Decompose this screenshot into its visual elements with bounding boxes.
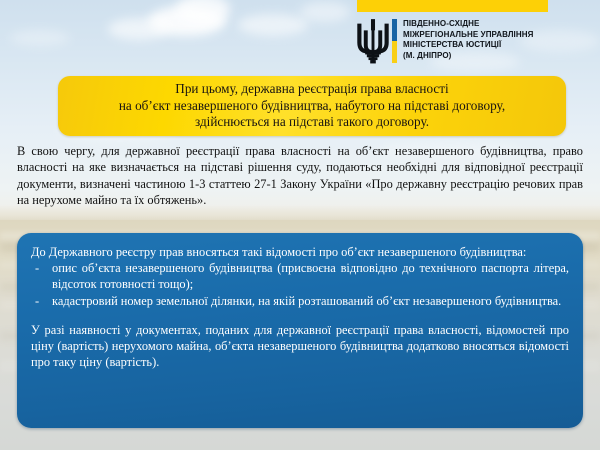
org-line-4: (М. ДНІПРО) bbox=[403, 51, 451, 60]
body-paragraph: В свою чергу, для державної реєстрації п… bbox=[17, 143, 583, 208]
bullet-dash-icon: - bbox=[35, 293, 39, 309]
organization-name: ПІВДЕННО-СХІДНЕ МІЖРЕГІОНАЛЬНЕ УПРАВЛІНН… bbox=[403, 18, 533, 61]
list-item: - опис об’єкта незавершеного будівництва… bbox=[31, 260, 569, 292]
organization-logo: ПІВДЕННО-СХІДНЕ МІЖРЕГІОНАЛЬНЕ УПРАВЛІНН… bbox=[356, 18, 576, 68]
spacer bbox=[31, 309, 569, 322]
header-accent-bar bbox=[357, 0, 548, 12]
org-line-1: ПІВДЕННО-СХІДНЕ bbox=[403, 19, 479, 28]
org-line-2: МІЖРЕГІОНАЛЬНЕ УПРАВЛІННЯ bbox=[403, 30, 533, 39]
bullet-dash-icon: - bbox=[35, 260, 39, 276]
cloud-icon bbox=[238, 14, 308, 36]
ukraine-flag-bar-icon bbox=[392, 19, 397, 63]
title-callout: При цьому, державна реєстрація права вла… bbox=[58, 76, 566, 136]
title-line-1: При цьому, державна реєстрація права вла… bbox=[175, 81, 448, 98]
blue-callout: До Державного реєстру прав вносяться так… bbox=[17, 233, 583, 428]
title-line-2: на об’єкт незавершеного будівництва, наб… bbox=[119, 98, 505, 115]
ukraine-trident-icon bbox=[356, 18, 390, 64]
list-item-label: кадастровий номер земельної ділянки, на … bbox=[52, 294, 561, 308]
slide-canvas: ПІВДЕННО-СХІДНЕ МІЖРЕГІОНАЛЬНЕ УПРАВЛІНН… bbox=[0, 0, 600, 450]
blue-callout-bullet-list: - опис об’єкта незавершеного будівництва… bbox=[31, 260, 569, 309]
cloud-icon bbox=[300, 2, 350, 22]
blue-callout-closing: У разі наявності у документах, поданих д… bbox=[31, 322, 569, 371]
cloud-icon bbox=[108, 18, 170, 40]
blue-callout-intro: До Державного реєстру прав вносяться так… bbox=[31, 244, 569, 260]
cloud-icon bbox=[10, 30, 70, 46]
list-item-label: опис об’єкта незавершеного будівництва (… bbox=[52, 261, 569, 291]
list-item: - кадастровий номер земельної ділянки, н… bbox=[31, 293, 569, 309]
title-line-3: здійснюється на підставі такого договору… bbox=[195, 114, 429, 131]
org-line-3: МІНІСТЕРСТВА ЮСТИЦІЇ bbox=[403, 40, 501, 49]
